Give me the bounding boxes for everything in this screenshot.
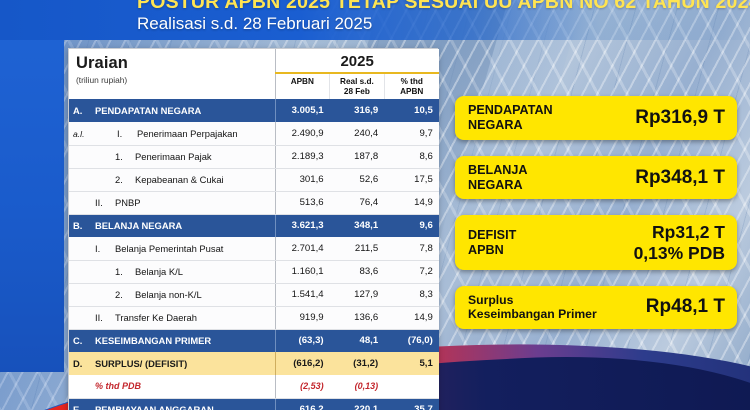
- row-label-cell: C.KESEIMBANGAN PRIMER: [69, 329, 275, 352]
- row-value-real: 240,4: [330, 122, 385, 145]
- table-body: A.PENDAPATAN NEGARA3.005,1316,910,5a.l.I…: [69, 99, 439, 410]
- row-label-text: Penerimaan Pajak: [135, 151, 212, 162]
- row-label-cell: A.PENDAPATAN NEGARA: [69, 99, 275, 122]
- table-row: I.Belanja Pemerintah Pusat2.701,4211,57,…: [69, 237, 439, 260]
- row-label-cell: E.PEMBIAYAAN ANGGARAN: [69, 398, 275, 410]
- row-value-apbn: 1.541,4: [275, 283, 330, 306]
- row-label-cell: II.Transfer Ke Daerah: [69, 306, 275, 329]
- table-header: Uraian (triliun rupiah) 2025 APBNReal s.…: [69, 49, 439, 99]
- row-label-text: Transfer Ke Daerah: [115, 312, 197, 323]
- row-value-real: 220,1: [330, 398, 385, 410]
- callout-label: BELANJA NEGARA: [468, 163, 527, 193]
- header-label-uraian: Uraian: [76, 54, 275, 73]
- table-row: % thd PDB(2,53)(0,13): [69, 375, 439, 398]
- row-label-cell: 2.Belanja non-K/L: [69, 283, 275, 306]
- row-label-text: PEMBIAYAAN ANGGARAN: [95, 404, 214, 410]
- page-title: POSTUR APBN 2025 TETAP SESUAI UU APBN NO…: [137, 0, 750, 14]
- row-label-text: Belanja Pemerintah Pusat: [115, 243, 223, 254]
- row-label-text: SURPLUS/ (DEFISIT): [95, 358, 187, 369]
- row-value-real: 348,1: [330, 214, 385, 237]
- row-value-real: 52,6: [330, 168, 385, 191]
- row-value-apbn: 3.005,1: [275, 99, 330, 122]
- row-value-apbn: 616,2: [275, 398, 330, 410]
- callout-card: Surplus Keseimbangan PrimerRp48,1 T: [455, 286, 737, 329]
- table-row: B.BELANJA NEGARA3.621,3348,19,6: [69, 214, 439, 237]
- table-row: A.PENDAPATAN NEGARA3.005,1316,910,5: [69, 99, 439, 122]
- row-code: C.: [73, 335, 95, 346]
- table-row: 2.Kepabeanan & Cukai301,652,617,5: [69, 168, 439, 191]
- table-row: 1.Penerimaan Pajak2.189,3187,88,6: [69, 145, 439, 168]
- page-subtitle: Realisasi s.d. 28 Februari 2025: [137, 14, 372, 34]
- row-label-text: KESEIMBANGAN PRIMER: [95, 335, 211, 346]
- callout-card: DEFISIT APBNRp31,2 T 0,13% PDB: [455, 215, 737, 270]
- budget-table: Uraian (triliun rupiah) 2025 APBNReal s.…: [69, 49, 439, 410]
- row-number: II.: [95, 197, 115, 208]
- row-value-pct: 8,6: [384, 145, 439, 168]
- row-code: B.: [73, 220, 95, 231]
- row-number: 1.: [115, 151, 135, 162]
- table-row: 2.Belanja non-K/L1.541,4127,98,3: [69, 283, 439, 306]
- apbn-posture-table: Uraian (triliun rupiah) 2025 APBNReal s.…: [68, 48, 438, 410]
- row-value-apbn: (616,2): [275, 352, 330, 375]
- highlight-callouts: PENDAPATAN NEGARARp316,9 TBELANJA NEGARA…: [455, 96, 737, 329]
- row-label-cell: 1.Penerimaan Pajak: [69, 145, 275, 168]
- row-value-apbn: (63,3): [275, 329, 330, 352]
- row-value-apbn: 2.701,4: [275, 237, 330, 260]
- row-value-pct: 10,5: [384, 99, 439, 122]
- table-row: C.KESEIMBANGAN PRIMER(63,3)48,1(76,0): [69, 329, 439, 352]
- row-value-apbn: 2.490,9: [275, 122, 330, 145]
- header-band: POSTUR APBN 2025 TETAP SESUAI UU APBN NO…: [0, 0, 750, 40]
- row-value-pct: 35,7: [384, 398, 439, 410]
- callout-label: PENDAPATAN NEGARA: [468, 103, 553, 133]
- row-code: a.l.: [73, 129, 95, 139]
- row-label-text: PNBP: [115, 197, 141, 208]
- row-label-text: Belanja non-K/L: [135, 289, 202, 300]
- table-row: 1.Belanja K/L1.160,183,67,2: [69, 260, 439, 283]
- row-value-real: 211,5: [330, 237, 385, 260]
- table-row: E.PEMBIAYAAN ANGGARAN616,2220,135,7: [69, 398, 439, 410]
- row-value-apbn: 3.621,3: [275, 214, 330, 237]
- callout-value: Rp31,2 T 0,13% PDB: [634, 222, 725, 263]
- row-value-real: 187,8: [330, 145, 385, 168]
- row-number: I.: [95, 243, 115, 254]
- row-label-cell: II.PNBP: [69, 191, 275, 214]
- header-subcolumn-2: Real s.d.28 Feb: [330, 73, 385, 99]
- row-code: D.: [73, 358, 95, 369]
- row-number: II.: [95, 312, 115, 323]
- left-blue-panel: [0, 22, 64, 372]
- header-year: 2025: [275, 49, 439, 73]
- row-value-pct: 9,6: [384, 214, 439, 237]
- row-value-pct: 7,8: [384, 237, 439, 260]
- callout-value: Rp316,9 T: [635, 107, 725, 129]
- row-value-real: 127,9: [330, 283, 385, 306]
- table-row: II.PNBP513,676,414,9: [69, 191, 439, 214]
- table-row: a.l.I.Penerimaan Perpajakan2.490,9240,49…: [69, 122, 439, 145]
- callout-label: DEFISIT APBN: [468, 228, 516, 258]
- header-subcolumn-3: % thdAPBN: [384, 73, 439, 99]
- callout-value: Rp48,1 T: [646, 296, 725, 318]
- row-number: 1.: [115, 266, 135, 277]
- row-label-text: Kepabeanan & Cukai: [135, 174, 224, 185]
- row-label-text: Penerimaan Perpajakan: [137, 128, 238, 139]
- row-value-pct: 9,7: [384, 122, 439, 145]
- row-label-text: BELANJA NEGARA: [95, 220, 182, 231]
- row-label-text: Belanja K/L: [135, 266, 183, 277]
- row-label-text: PENDAPATAN NEGARA: [95, 105, 201, 116]
- row-value-real: 48,1: [330, 329, 385, 352]
- row-label-cell: B.BELANJA NEGARA: [69, 214, 275, 237]
- callout-label: Surplus Keseimbangan Primer: [468, 293, 597, 322]
- header-cell-uraian: Uraian (triliun rupiah): [69, 49, 275, 99]
- row-value-pct: 5,1: [384, 352, 439, 375]
- row-value-apbn: 301,6: [275, 168, 330, 191]
- row-value-real: 76,4: [330, 191, 385, 214]
- row-value-real: (0,13): [330, 375, 385, 398]
- row-label-cell: 1.Belanja K/L: [69, 260, 275, 283]
- table-row: II.Transfer Ke Daerah919,9136,614,9: [69, 306, 439, 329]
- row-value-pct: 8,3: [384, 283, 439, 306]
- row-label-cell: % thd PDB: [69, 375, 275, 398]
- row-label-cell: 2.Kepabeanan & Cukai: [69, 168, 275, 191]
- row-value-apbn: 2.189,3: [275, 145, 330, 168]
- row-number: I.: [117, 128, 137, 139]
- row-label-cell: I.Belanja Pemerintah Pusat: [69, 237, 275, 260]
- row-value-real: 83,6: [330, 260, 385, 283]
- row-value-apbn: 513,6: [275, 191, 330, 214]
- row-value-real: (31,2): [330, 352, 385, 375]
- row-value-real: 316,9: [330, 99, 385, 122]
- callout-card: BELANJA NEGARARp348,1 T: [455, 156, 737, 200]
- callout-value: Rp348,1 T: [635, 167, 725, 189]
- row-value-pct: 17,5: [384, 168, 439, 191]
- row-number: 2.: [115, 174, 135, 185]
- row-value-pct: (76,0): [384, 329, 439, 352]
- row-value-pct: 14,9: [384, 191, 439, 214]
- row-value-real: 136,6: [330, 306, 385, 329]
- row-value-pct: 14,9: [384, 306, 439, 329]
- row-value-pct: 7,2: [384, 260, 439, 283]
- callout-card: PENDAPATAN NEGARARp316,9 T: [455, 96, 737, 140]
- row-label-cell: a.l.I.Penerimaan Perpajakan: [69, 122, 275, 145]
- row-label-cell: D.SURPLUS/ (DEFISIT): [69, 352, 275, 375]
- row-value-apbn: (2,53): [275, 375, 330, 398]
- header-label-unit: (triliun rupiah): [76, 75, 275, 85]
- row-number: 2.: [115, 289, 135, 300]
- row-code: A.: [73, 105, 95, 116]
- row-value-pct: [384, 375, 439, 398]
- row-label-text: % thd PDB: [95, 381, 141, 391]
- row-code: E.: [73, 404, 95, 410]
- row-value-apbn: 919,9: [275, 306, 330, 329]
- table-row: D.SURPLUS/ (DEFISIT)(616,2)(31,2)5,1: [69, 352, 439, 375]
- header-subcolumn-1: APBN: [275, 73, 330, 99]
- row-value-apbn: 1.160,1: [275, 260, 330, 283]
